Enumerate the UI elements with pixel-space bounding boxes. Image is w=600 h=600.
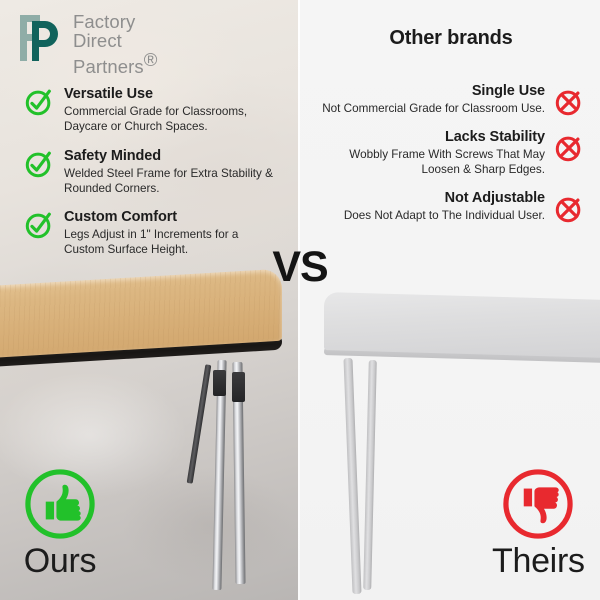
brand-name-line-3: Partners® <box>73 51 157 77</box>
feature-title: Not Adjustable <box>322 190 545 207</box>
green-check-circle-icon <box>24 87 54 117</box>
feature-description: Wobbly Frame With Screws That May Loosen… <box>322 147 545 177</box>
brand-logo: Factory Direct Partners® <box>18 12 157 77</box>
height-adjust-knob <box>232 372 245 402</box>
theirs-feature-list: Single Use Not Commercial Grade for Clas… <box>322 83 584 236</box>
feature-title: Custom Comfort <box>64 209 274 226</box>
fp-monogram-icon <box>18 12 64 64</box>
ours-verdict: Ours <box>22 466 98 578</box>
feature-description: Commercial Grade for Classrooms, Daycare… <box>64 104 274 134</box>
thumbs-down-circle-icon <box>500 466 576 542</box>
green-check-circle-icon <box>24 149 54 179</box>
feature-item: Not Adjustable Does Not Adapt to The Ind… <box>322 190 584 224</box>
comparison-infographic: Factory Direct Partners® Versatile Use C… <box>0 0 600 600</box>
feature-item: Lacks Stability Wobbly Frame With Screws… <box>322 129 584 178</box>
red-x-circle-icon <box>554 133 584 163</box>
theirs-label: Theirs <box>492 544 585 578</box>
feature-item: Single Use Not Commercial Grade for Clas… <box>322 83 584 117</box>
feature-title: Lacks Stability <box>322 129 545 146</box>
table-gray-top <box>324 292 600 358</box>
gray-leg <box>363 360 377 590</box>
theirs-verdict: Theirs <box>492 466 585 578</box>
red-x-circle-icon <box>554 194 584 224</box>
registered-mark: ® <box>144 49 158 70</box>
red-x-circle-icon <box>554 87 584 117</box>
feature-title: Single Use <box>322 83 545 100</box>
feature-title: Versatile Use <box>64 86 274 103</box>
gray-leg <box>343 358 361 594</box>
table-leg-brace <box>187 364 212 483</box>
feature-item: Safety Minded Welded Steel Frame for Ext… <box>24 148 274 197</box>
ours-label: Ours <box>24 544 96 578</box>
feature-title: Safety Minded <box>64 148 274 165</box>
versus-label: VS <box>0 243 600 292</box>
feature-description: Not Commercial Grade for Classroom Use. <box>322 101 545 116</box>
panel-divider <box>298 0 300 600</box>
thumbs-up-circle-icon <box>22 466 98 542</box>
green-check-circle-icon <box>24 210 54 240</box>
feature-description: Does Not Adapt to The Individual User. <box>322 208 545 223</box>
feature-description: Welded Steel Frame for Extra Stability &… <box>64 166 274 196</box>
feature-item: Versatile Use Commercial Grade for Class… <box>24 86 274 135</box>
other-brands-heading: Other brands <box>318 27 584 50</box>
height-adjust-knob <box>213 370 226 396</box>
brand-wordmark: Factory Direct Partners® <box>73 12 157 77</box>
